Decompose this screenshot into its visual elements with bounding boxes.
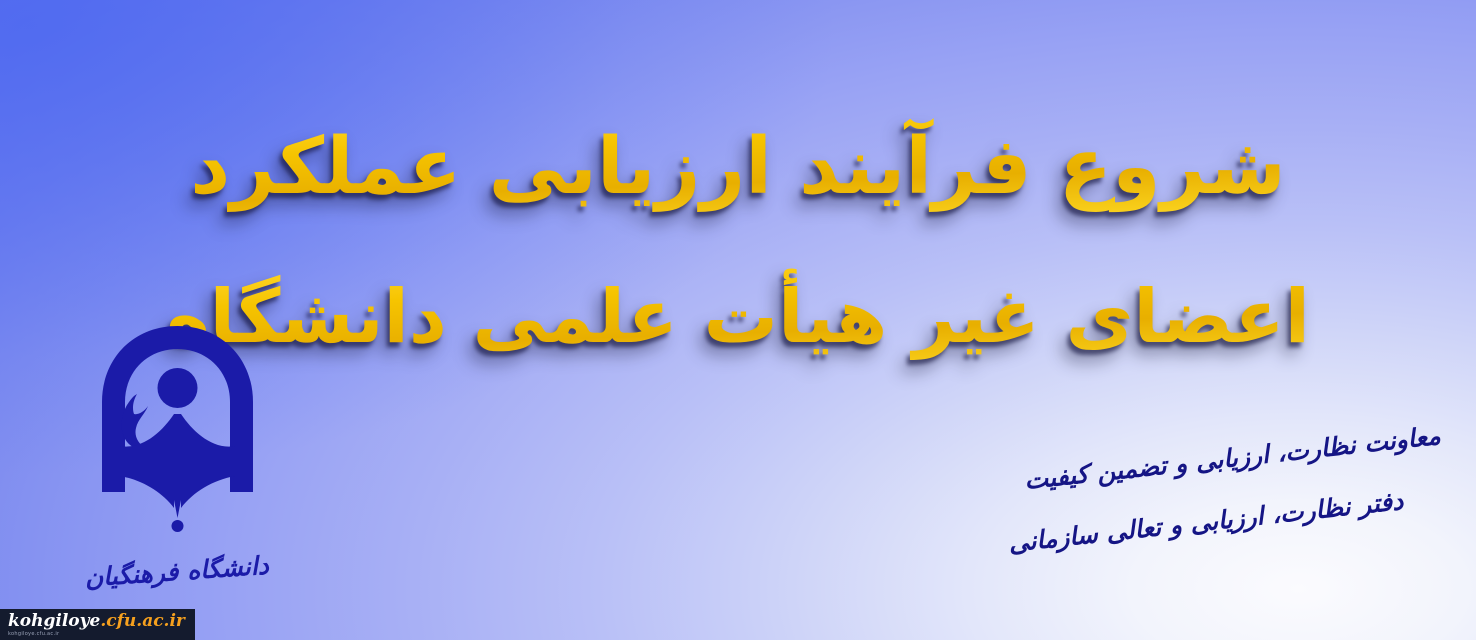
site-watermark: kohgiloye.cfu.ac.ir kohgiloye.cfu.ac.ir [0,609,195,640]
watermark-site-name: kohgiloye [8,611,100,631]
university-emblem-icon [90,322,265,547]
logo-caption: دانشگاه فرهنگیان [62,536,292,598]
logo-caption-text: دانشگاه فرهنگیان [84,550,271,594]
headline-line-1: شروع فرآیند ارزیابی عملکرد [0,92,1476,242]
watermark-subtext: kohgiloye.cfu.ac.ir [8,631,185,637]
issuing-office-block: معاونت نظارت، ارزیابی و تضمین کیفیت دفتر… [1028,404,1458,526]
watermark-url: kohgiloye.cfu.ac.ir [8,612,185,631]
watermark-site-domain: .cfu.ac.ir [100,611,185,631]
announcement-banner: شروع فرآیند ارزیابی عملکرد اعضای غیر هیأ… [0,0,1476,640]
farhangian-university-logo: دانشگاه فرهنگیان [62,322,292,614]
